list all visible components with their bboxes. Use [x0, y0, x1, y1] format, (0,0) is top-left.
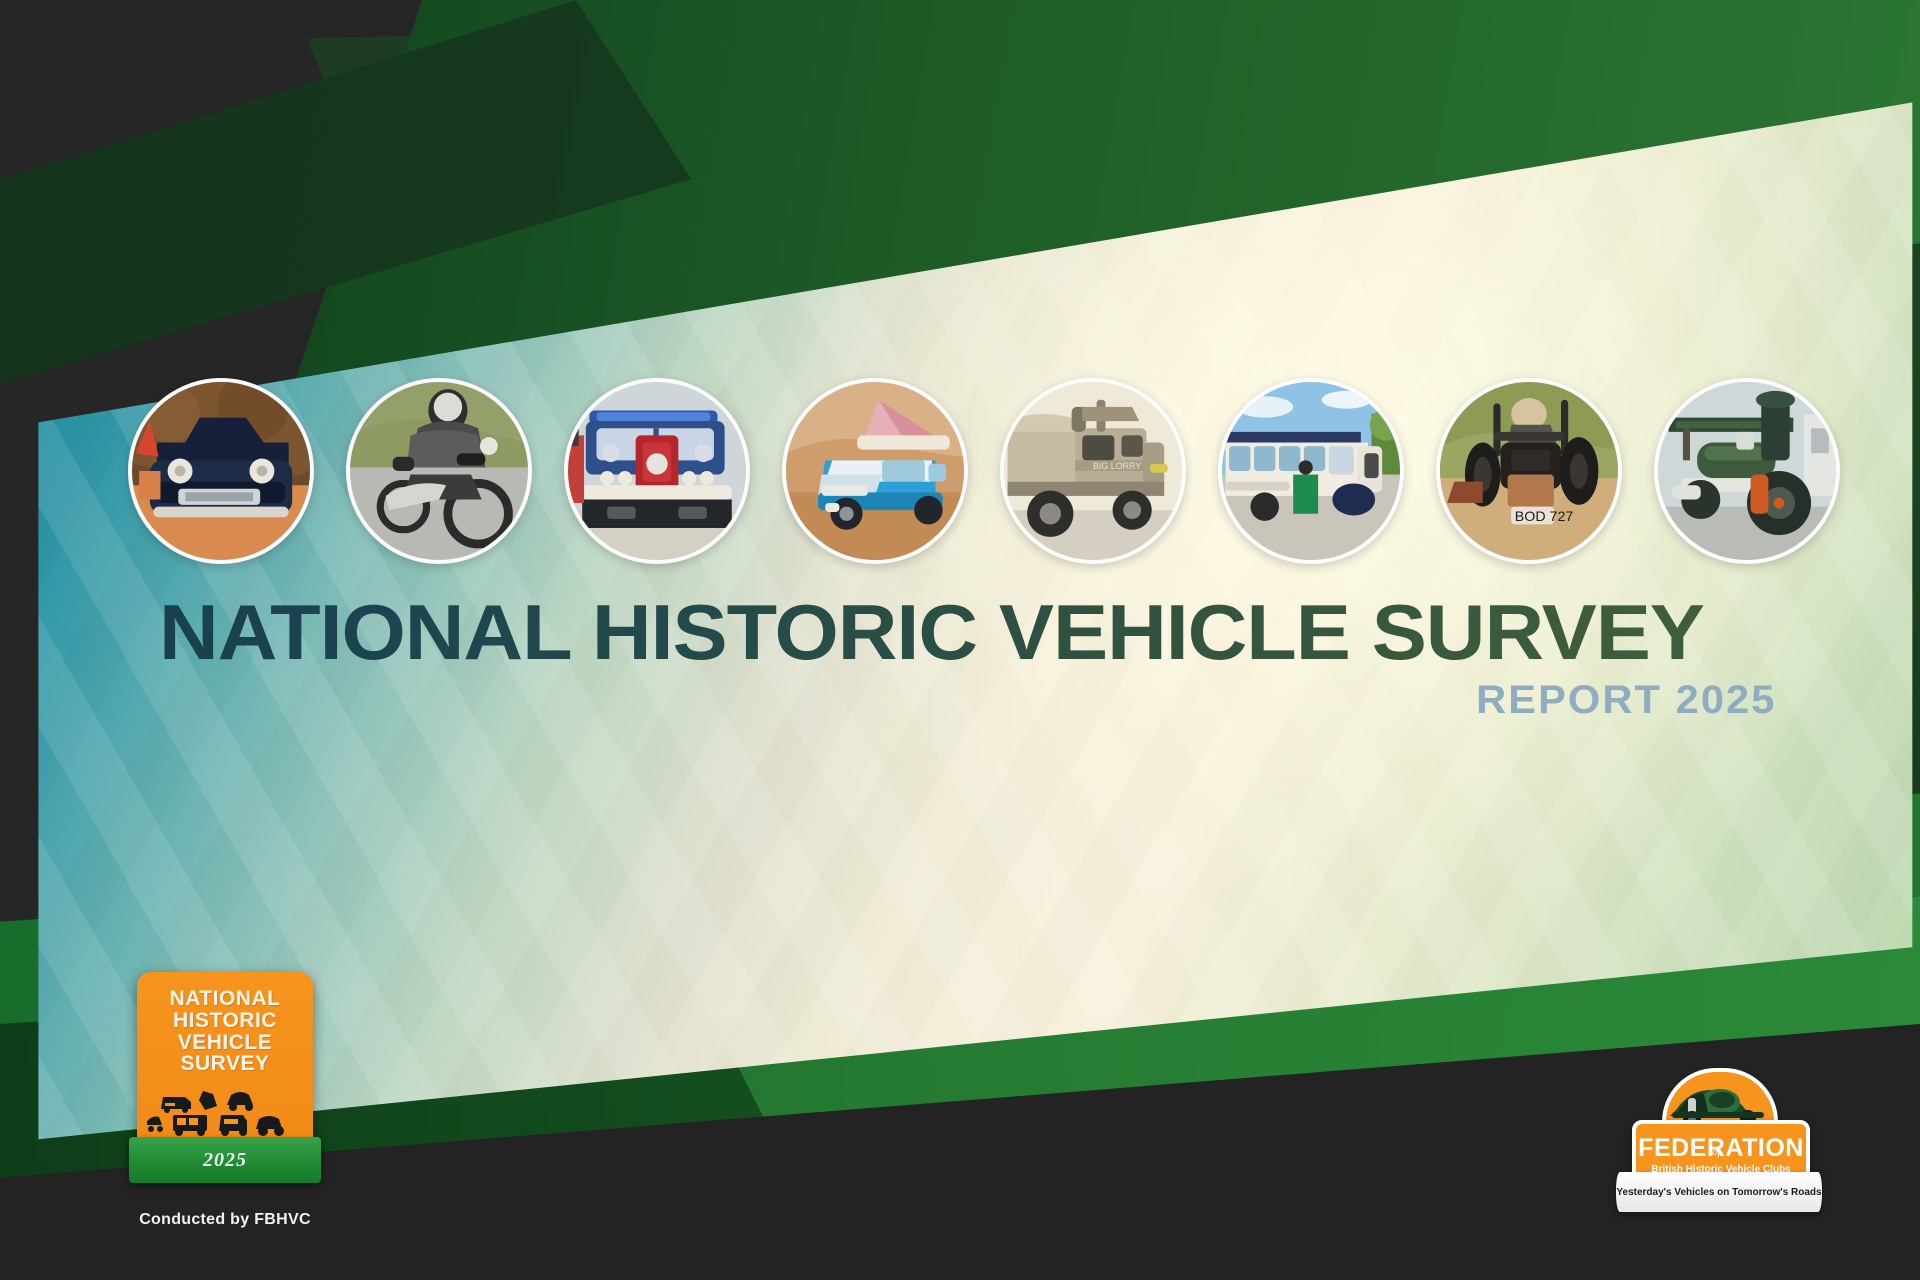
vintage-coach-icon [1222, 382, 1400, 560]
fbhvc-logo-banner: Yesterday's Vehicles on Tomorrow's Roads [1616, 1172, 1822, 1212]
classic-sports-car-icon [132, 382, 310, 560]
nhvs-badge-line-2: HISTORIC [145, 1010, 305, 1032]
nhvs-badge-line-1: NATIONAL [145, 988, 305, 1010]
vehicle-circle-vintage-motorcycle [346, 378, 532, 564]
vehicle-circle-vintage-coach [1218, 378, 1404, 564]
vehicle-circle-steam-traction-engine [1654, 378, 1840, 564]
fire-engine-icon [568, 382, 746, 560]
nhvs-badge-card: NATIONAL HISTORIC VEHICLE SURVEY [137, 972, 313, 1169]
page-subtitle: REPORT 2025 [0, 678, 1920, 723]
nhvs-badge-year: 2025 [203, 1149, 247, 1172]
vehicle-circle-classic-sports-car [128, 378, 314, 564]
nhvs-badge: NATIONAL HISTORIC VEHICLE SURVEY [130, 972, 320, 1229]
vintage-motorcycle-icon [350, 382, 528, 560]
camper-van-icon [786, 382, 964, 560]
fbhvc-logo: FEDERATION British Historic Vehicle Club… [1620, 1068, 1830, 1218]
steam-traction-engine-icon [1658, 382, 1836, 560]
military-lorry-icon: BIG LORRY [1004, 382, 1182, 560]
vehicle-circle-military-lorry: BIG LORRY [1000, 378, 1186, 564]
vehicle-silhouettes-icon [145, 1081, 295, 1139]
vehicle-circle-vintage-tractor: BOD 727 [1436, 378, 1622, 564]
nhvs-badge-year-ribbon: 2025 [129, 1137, 321, 1183]
nhvs-badge-line-4: SURVEY [145, 1053, 305, 1075]
fbhvc-banner-text: Yesterday's Vehicles on Tomorrow's Roads [1616, 1172, 1822, 1212]
vintage-tractor-icon: BOD 727 [1440, 382, 1618, 560]
title-block: NATIONAL HISTORIC VEHICLE SURVEY REPORT … [0, 595, 1920, 723]
svg-text:BIG LORRY: BIG LORRY [1093, 461, 1141, 471]
vehicle-photo-strip: BIG LORRY [128, 378, 1808, 578]
fbhvc-primary-text: FEDERATION [1638, 1136, 1804, 1161]
nhvs-badge-line-3: VEHICLE [145, 1032, 305, 1054]
nhvs-badge-credit: Conducted by FBHVC [130, 1211, 320, 1229]
page-title: NATIONAL HISTORIC VEHICLE SURVEY [0, 595, 1920, 670]
cover-stage: BIG LORRY [0, 0, 1920, 1280]
fbhvc-connector-text: of [1712, 1146, 1721, 1158]
tractor-plate-text: BOD 727 [1515, 509, 1574, 525]
vehicle-circle-fire-engine [564, 378, 750, 564]
vehicle-circle-camper-van [782, 378, 968, 564]
